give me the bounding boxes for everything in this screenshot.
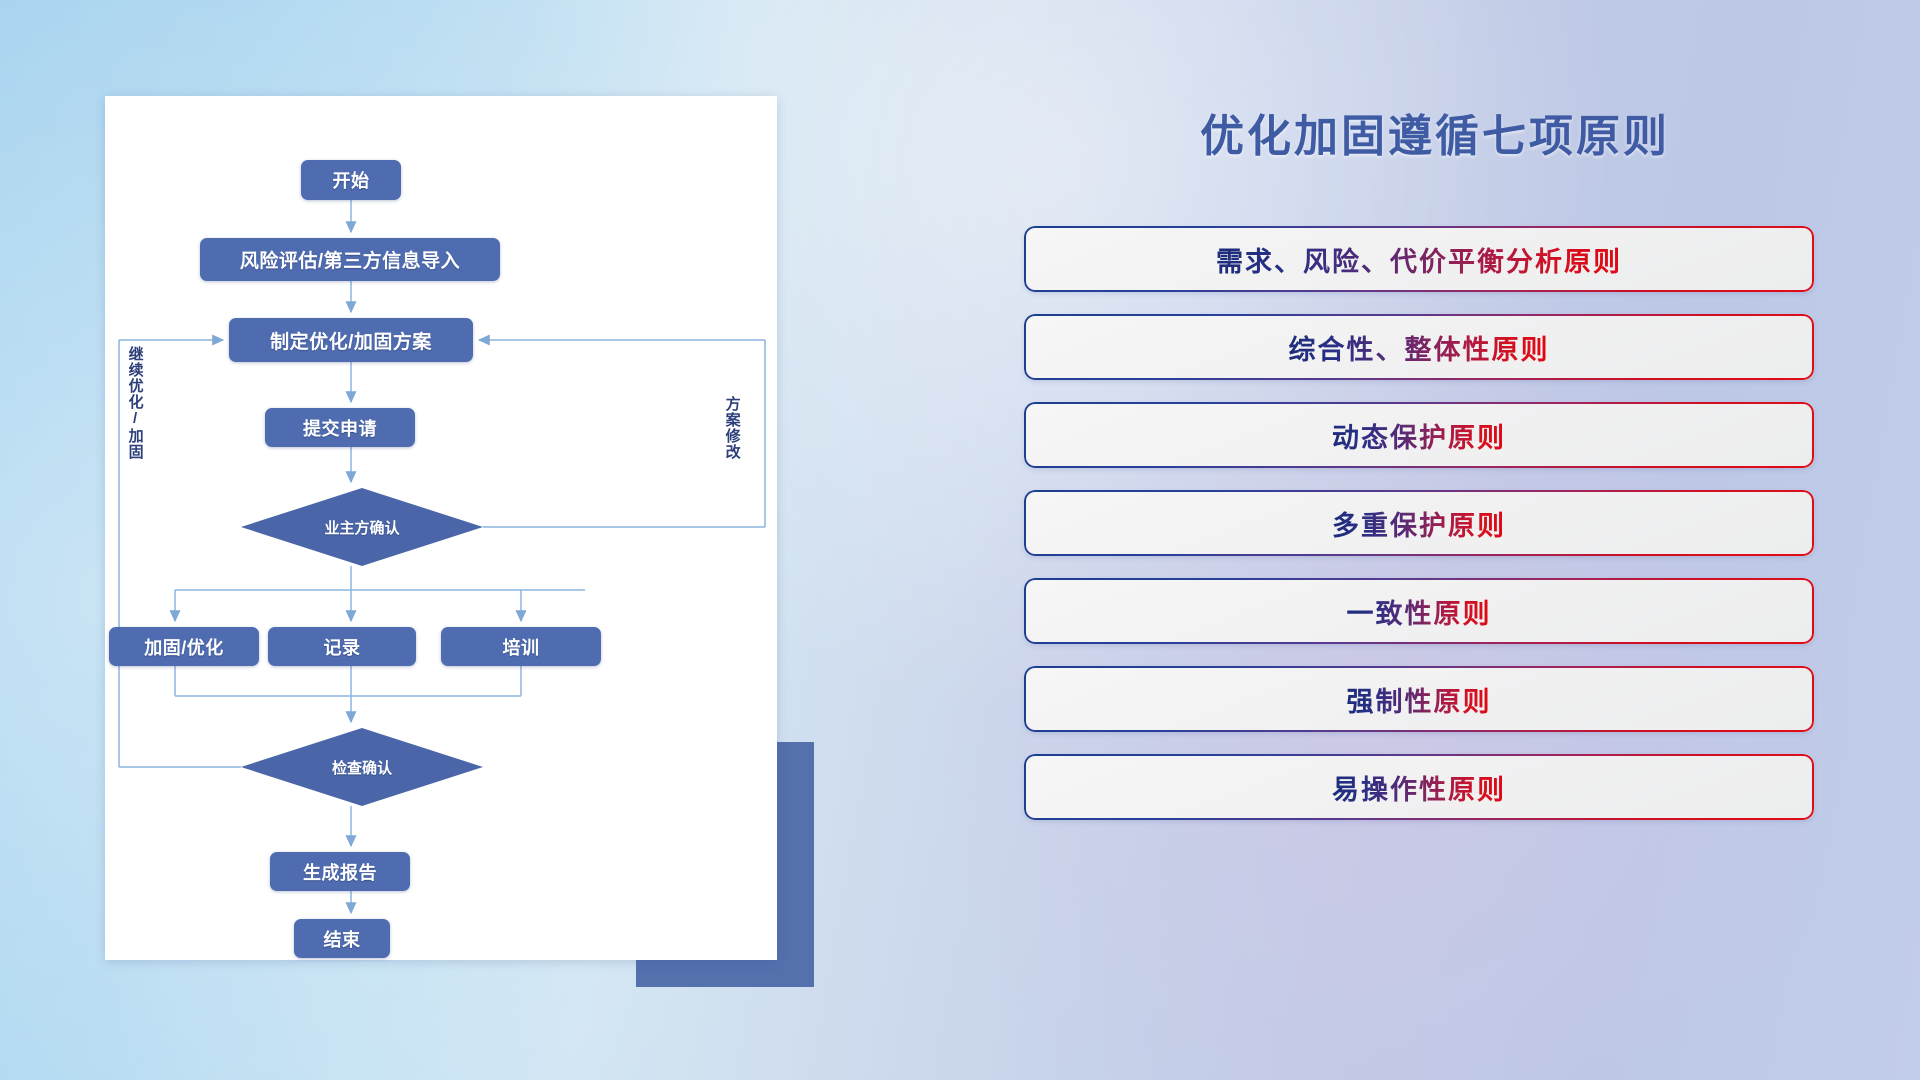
flow-node-training[interactable]: 培训 [441,627,601,666]
flow-decision-inspection-confirm[interactable]: 检查确认 [241,728,483,806]
flow-node-label: 制定优化/加固方案 [270,327,432,354]
principle-card[interactable]: 综合性、整体性原则 [1024,314,1814,380]
flow-node-start[interactable]: 开始 [301,160,401,200]
flow-node-make-plan[interactable]: 制定优化/加固方案 [229,318,473,362]
flow-node-label: 开始 [333,167,370,193]
principles-panel: 优化加固遵循七项原则 需求、风险、代价平衡分析原则 综合性、整体性原则 动态保护… [1020,96,1850,996]
flow-decision-owner-confirm[interactable]: 业主方确认 [241,488,483,566]
flow-node-label: 培训 [503,634,540,660]
principle-label: 易操作性原则 [1332,768,1506,807]
flow-node-end[interactable]: 结束 [294,919,390,958]
principles-card-list: 需求、风险、代价平衡分析原则 综合性、整体性原则 动态保护原则 多重保护原则 一… [1024,226,1814,842]
flowchart-inner: 开始 风险评估/第三方信息导入 制定优化/加固方案 提交申请 业主方确认 加固/… [105,96,777,960]
principle-label: 动态保护原则 [1332,416,1506,455]
flow-node-label: 提交申请 [303,415,377,441]
flow-node-label: 业主方确认 [324,517,399,538]
flowchart-card: 开始 风险评估/第三方信息导入 制定优化/加固方案 提交申请 业主方确认 加固/… [105,96,777,960]
flow-node-label: 检查确认 [332,757,392,778]
principle-card[interactable]: 需求、风险、代价平衡分析原则 [1024,226,1814,292]
slide-root: 开始 风险评估/第三方信息导入 制定优化/加固方案 提交申请 业主方确认 加固/… [0,0,1920,1080]
flow-node-label: 风险评估/第三方信息导入 [240,246,460,273]
panel-title: 优化加固遵循七项原则 [1020,100,1850,164]
principle-label: 一致性原则 [1347,592,1492,631]
flow-node-label: 结束 [324,926,361,952]
principle-card[interactable]: 一致性原则 [1024,578,1814,644]
principle-card[interactable]: 强制性原则 [1024,666,1814,732]
principle-label: 多重保护原则 [1332,504,1506,543]
principle-card[interactable]: 动态保护原则 [1024,402,1814,468]
flow-node-reinforce-optimize[interactable]: 加固/优化 [109,627,259,666]
flow-node-record[interactable]: 记录 [268,627,416,666]
flow-node-label: 记录 [324,634,361,660]
flow-node-risk-assessment[interactable]: 风险评估/第三方信息导入 [200,238,500,281]
flow-node-submit-application[interactable]: 提交申请 [265,408,415,447]
principle-label: 综合性、整体性原则 [1289,328,1550,367]
flow-node-generate-report[interactable]: 生成报告 [270,852,410,891]
flow-node-label: 加固/优化 [144,634,224,660]
principle-label: 需求、风险、代价平衡分析原则 [1216,240,1622,279]
edge-label-plan-revision: 方案修改 [724,396,740,460]
edge-label-continue-optimize: 继续优化/加固 [127,346,143,460]
principle-label: 强制性原则 [1347,680,1492,719]
flow-node-label: 生成报告 [303,859,377,885]
principle-card[interactable]: 易操作性原则 [1024,754,1814,820]
principle-card[interactable]: 多重保护原则 [1024,490,1814,556]
